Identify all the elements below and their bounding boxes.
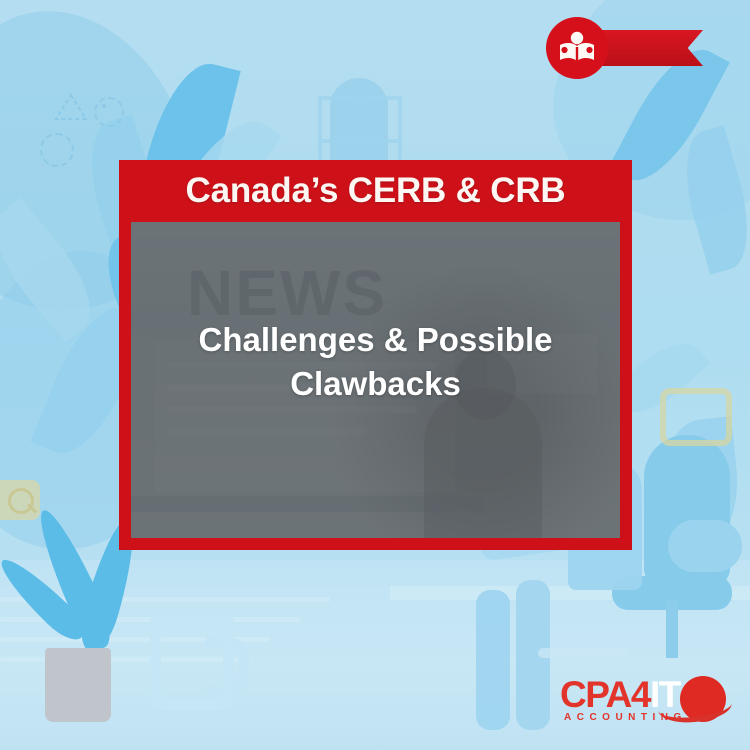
card-subtitle-line-1: Challenges & Possible bbox=[157, 318, 594, 362]
person-reading-book-icon bbox=[546, 17, 608, 79]
search-icon bbox=[8, 488, 34, 514]
office-chair-icon bbox=[666, 600, 678, 658]
poster-canvas: Canada’s CERB & CRB NEWS Challenges & Po… bbox=[0, 0, 750, 750]
card-title: Canada’s CERB & CRB bbox=[119, 160, 632, 222]
dashed-triangle-icon bbox=[54, 92, 88, 122]
brand-lockup: CPA4IT ACCOUNTING bbox=[558, 674, 738, 732]
card-subtitle-line-2: Clawbacks bbox=[157, 362, 594, 406]
document-badge-icon bbox=[660, 388, 732, 446]
brand-word-prefix: CPA4 bbox=[560, 674, 650, 715]
plant-pot-icon bbox=[45, 648, 111, 722]
document-badge-icon bbox=[538, 648, 630, 658]
brand-word-suffix: IT bbox=[650, 674, 680, 715]
seated-person-icon bbox=[476, 590, 510, 730]
dashed-circle-icon bbox=[102, 104, 106, 108]
mug-icon bbox=[150, 616, 234, 710]
card-media: NEWS Challenges & Possible Clawbacks bbox=[131, 222, 620, 538]
brand-wordmark: CPA4IT bbox=[560, 674, 680, 716]
dashed-circle-icon bbox=[94, 97, 124, 127]
feature-card: Canada’s CERB & CRB NEWS Challenges & Po… bbox=[119, 160, 632, 550]
dashed-circle-icon bbox=[40, 133, 74, 167]
office-chair-icon bbox=[668, 520, 742, 572]
card-subtitle: Challenges & Possible Clawbacks bbox=[131, 318, 620, 405]
